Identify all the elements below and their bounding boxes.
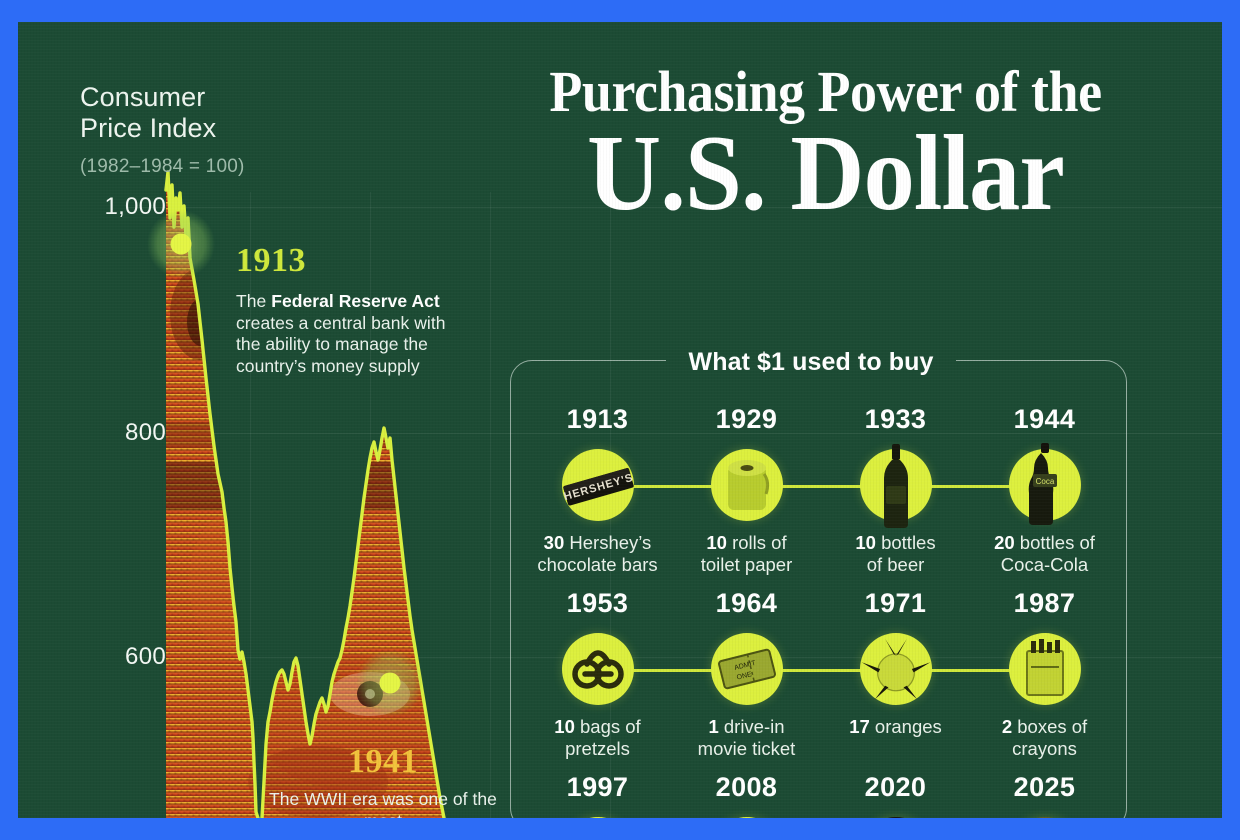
item-row-1-years: 1913 1929 1933 1944 — [523, 404, 1119, 434]
y-tick-600: 600 — [66, 643, 166, 671]
item-year: 1964 — [672, 588, 821, 618]
item-icon — [562, 817, 634, 818]
crayon-box-icon — [1009, 633, 1081, 705]
annotation-1941-body: The WWII era was one of the most — [268, 789, 498, 818]
item-year: 1997 — [523, 772, 672, 802]
item-year: 2025 — [970, 772, 1119, 802]
annotation-1913: 1913 The Federal Reserve Act creates a c… — [236, 244, 451, 377]
item-year: 1971 — [821, 588, 970, 618]
svg-text:Coca: Coca — [1035, 477, 1054, 486]
item-year: 1933 — [821, 404, 970, 434]
item-year: 2020 — [821, 772, 970, 802]
page-title-line2: U.S. Dollar — [467, 122, 1184, 226]
y-axis-ticks: 1,000 800 600 — [18, 22, 166, 818]
item-row-2-icons: ADMIT ONE — [523, 626, 1119, 712]
pretzel-icon — [562, 633, 634, 705]
item-row-1-icons: HERSHEY'S — [523, 442, 1119, 528]
annotation-1941-year: 1941 — [268, 745, 498, 779]
movie-ticket-icon: ADMIT ONE — [711, 633, 783, 705]
item-year: 1953 — [523, 588, 672, 618]
item-year: 1987 — [970, 588, 1119, 618]
item-row-1: 1913 1929 1933 1944 HERSHEY'S — [523, 404, 1119, 572]
item-icon — [860, 817, 932, 818]
blue-frame: Consumer Price Index (1982–1984 = 100) 1… — [0, 0, 1240, 840]
panel-heading: What $1 used to buy — [666, 348, 956, 377]
item-year: 1913 — [523, 404, 672, 434]
item-row-2: 1953 1964 1971 1987 — [523, 588, 1119, 756]
toilet-paper-icon — [711, 449, 783, 521]
item-label: 10 bags ofpretzels — [523, 716, 672, 760]
item-year: 1929 — [672, 404, 821, 434]
item-label: 20 bottles ofCoca-Cola — [970, 532, 1119, 576]
item-label: 2 boxes ofcrayons — [970, 716, 1119, 760]
item-icon — [711, 817, 783, 818]
item-row-2-labels: 10 bags ofpretzels 1 drive-inmovie ticke… — [523, 716, 1119, 760]
hersheys-bar-icon: HERSHEY'S — [562, 449, 634, 521]
orange-fruit-icon — [860, 633, 932, 705]
item-row-1-labels: 30 Hershey’schocolate bars 10 rolls ofto… — [523, 532, 1119, 576]
item-label: 10 rolls oftoilet paper — [672, 532, 821, 576]
item-row-3-icons — [523, 810, 1119, 818]
item-row-3: 1997 2008 2020 2025 — [523, 772, 1119, 818]
page-title-line1: Purchasing Power of the — [474, 62, 1176, 122]
y-tick-1000: 1,000 — [66, 193, 166, 221]
page-title: Purchasing Power of the U.S. Dollar — [448, 62, 1203, 226]
annotation-1913-year: 1913 — [236, 244, 451, 278]
item-icon — [1009, 817, 1081, 818]
annotation-1941: 1941 The WWII era was one of the most — [268, 745, 498, 818]
item-label: 17 oranges — [821, 716, 970, 760]
item-label: 1 drive-inmovie ticket — [672, 716, 821, 760]
item-label: 10 bottlesof beer — [821, 532, 970, 576]
infographic-canvas: Consumer Price Index (1982–1984 = 100) 1… — [18, 22, 1222, 818]
coca-cola-bottle-icon: Coca — [1009, 449, 1081, 521]
y-tick-800: 800 — [66, 419, 166, 447]
item-year: 1944 — [970, 404, 1119, 434]
item-year: 2008 — [672, 772, 821, 802]
item-row-3-years: 1997 2008 2020 2025 — [523, 772, 1119, 802]
annotation-1913-body: The Federal Reserve Act creates a centra… — [236, 291, 451, 377]
item-label: 30 Hershey’schocolate bars — [523, 532, 672, 576]
beer-bottle-icon — [860, 449, 932, 521]
item-row-2-years: 1953 1964 1971 1987 — [523, 588, 1119, 618]
chart-marker-1941 — [356, 649, 424, 717]
